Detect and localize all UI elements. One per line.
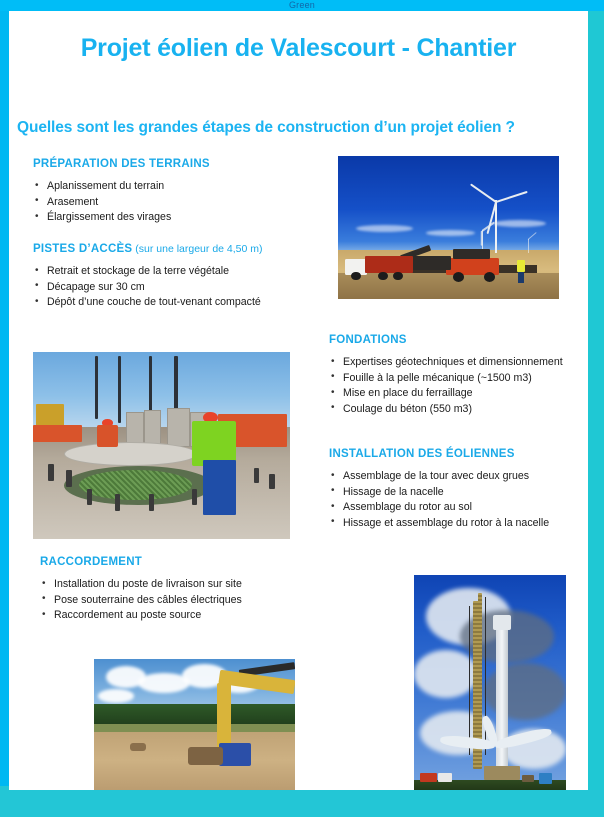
worker-jacket-distant	[97, 425, 118, 447]
section-raccordement: RACCORDEMENT Installation du poste de li…	[40, 556, 320, 624]
frame-bottom-band	[0, 790, 604, 817]
bullet-list-installation: Assemblage de la tour avec deux grues Hi…	[329, 469, 581, 530]
list-item: Décapage sur 30 cm	[33, 280, 343, 295]
red-crane-body	[33, 425, 82, 442]
list-item: Raccordement au poste source	[40, 608, 320, 623]
truck-wheel	[378, 272, 388, 281]
crane-base-platform	[484, 766, 520, 779]
list-item: Dépôt d’une couche de tout-venant compac…	[33, 295, 343, 310]
rebar-mesh	[79, 470, 192, 500]
machine-wheel	[484, 272, 495, 282]
page-title: Projet éolien de Valescourt - Chantier	[9, 34, 588, 63]
frame-right-band	[588, 11, 604, 790]
list-item: Arasement	[33, 195, 333, 210]
wind-turbine-mast-distant	[528, 239, 529, 253]
list-item: Hissage et assemblage du rotor à la nace…	[329, 516, 581, 531]
poster-page: Green Projet éolien de Valescourt - Chan…	[0, 0, 604, 817]
worker-hi-vis-vest	[517, 260, 525, 271]
section-installation: INSTALLATION DES ÉOLIENNES Assemblage de…	[329, 448, 581, 531]
frame-bottom-corner	[0, 786, 9, 817]
section-heading-installation: INSTALLATION DES ÉOLIENNES	[329, 448, 581, 460]
precast-block	[144, 410, 162, 446]
list-item: Aplanissement du terrain	[33, 179, 333, 194]
anchor-bolt	[149, 494, 154, 511]
section-heading-text: PISTES D’ACCÈS	[33, 243, 132, 255]
section-pistes: PISTES D’ACCÈS (sur une largeur de 4,50 …	[33, 243, 343, 311]
truck-dump-bed	[365, 256, 414, 273]
list-item: Installation du poste de livraison sur s…	[40, 577, 320, 592]
anchor-bolt	[66, 470, 71, 487]
excavator-bucket	[219, 743, 251, 766]
list-item: Assemblage de la tour avec deux grues	[329, 469, 581, 484]
section-fondations: FONDATIONS Expertises géotechniques et d…	[329, 334, 581, 417]
frame-top-label: Green	[289, 0, 315, 10]
site-vehicle	[438, 773, 452, 782]
section-preparation: PRÉPARATION DES TERRAINS Aplanissement d…	[33, 158, 333, 226]
section-heading-text: FONDATIONS	[329, 334, 407, 346]
precast-block	[126, 412, 144, 446]
anchor-bolt	[192, 489, 197, 506]
list-item: Retrait et stockage de la terre végétale	[33, 264, 343, 279]
bullet-list-raccordement: Installation du poste de livraison sur s…	[40, 577, 320, 623]
photo-sky	[338, 156, 559, 253]
site-vehicle	[420, 773, 437, 782]
bullet-list-fondations: Expertises géotechniques et dimensionnem…	[329, 355, 581, 416]
worker-hi-vis-jacket	[192, 421, 236, 466]
paving-machine-canopy	[453, 249, 491, 259]
anchor-bolt	[87, 489, 92, 506]
frame-top-band: Green	[0, 0, 604, 11]
cloud-shape	[356, 225, 413, 232]
excavator-background	[36, 404, 64, 426]
section-heading-suffix: (sur une largeur de 4,50 m)	[132, 243, 262, 255]
worker-legs	[518, 272, 524, 283]
list-item: Élargissement des virages	[33, 210, 333, 225]
section-heading-text: RACCORDEMENT	[40, 556, 142, 568]
section-heading-preparation: PRÉPARATION DES TERRAINS	[33, 158, 333, 170]
bullet-list-pistes: Retrait et stockage de la terre végétale…	[33, 264, 343, 310]
machine-wheel	[453, 272, 464, 282]
poster-canvas: Projet éolien de Valescourt - Chantier Q…	[9, 11, 588, 790]
anchor-bolt	[254, 468, 259, 483]
page-subtitle: Quelles sont les grandes étapes de const…	[17, 119, 588, 137]
section-heading-text: INSTALLATION DES ÉOLIENNES	[329, 448, 515, 460]
crane-sling	[95, 356, 99, 420]
photo-access-road-construction	[338, 156, 559, 299]
list-item: Assemblage du rotor au sol	[329, 500, 581, 515]
list-item: Expertises géotechniques et dimensionnem…	[329, 355, 581, 370]
section-heading-fondations: FONDATIONS	[329, 334, 581, 346]
precast-block	[167, 408, 190, 447]
turbine-blade	[481, 231, 483, 246]
anchor-bolt	[48, 464, 53, 481]
worker-trousers	[203, 460, 236, 514]
crane-hoist-cable	[469, 606, 470, 756]
uprooted-stump	[188, 747, 222, 765]
list-item: Coulage du béton (550 m3)	[329, 402, 581, 417]
list-item: Pose souterraine des câbles électriques	[40, 593, 320, 608]
list-item: Fouille à la pelle mécanique (~1500 m3)	[329, 371, 581, 386]
list-item: Mise en place du ferraillage	[329, 386, 581, 401]
turbine-nacelle	[493, 615, 511, 630]
anchor-bolt	[115, 494, 120, 511]
conveyor-hopper	[413, 256, 451, 270]
frame-left-band	[0, 11, 9, 790]
section-heading-raccordement: RACCORDEMENT	[40, 556, 320, 568]
cloud-shape	[98, 689, 134, 703]
site-container	[539, 773, 553, 784]
photo-turbine-erection	[414, 575, 566, 790]
photo-roadbed	[338, 273, 559, 299]
bullet-list-preparation: Aplanissement du terrain Arasement Élarg…	[33, 179, 333, 225]
foundation-steel-ring	[64, 442, 198, 466]
section-heading-text: PRÉPARATION DES TERRAINS	[33, 158, 210, 170]
list-item: Hissage de la nacelle	[329, 485, 581, 500]
turbine-tower-section	[496, 623, 508, 770]
section-heading-pistes: PISTES D’ACCÈS (sur une largeur de 4,50 …	[33, 243, 343, 255]
crane-jib-tip	[478, 593, 483, 611]
anchor-bolt	[269, 474, 274, 489]
crane-sling	[118, 356, 122, 423]
soil-mound	[130, 743, 146, 751]
photo-turbine-foundation	[33, 352, 290, 539]
photo-excavator-stripping	[94, 659, 295, 790]
site-equipment	[522, 775, 534, 782]
